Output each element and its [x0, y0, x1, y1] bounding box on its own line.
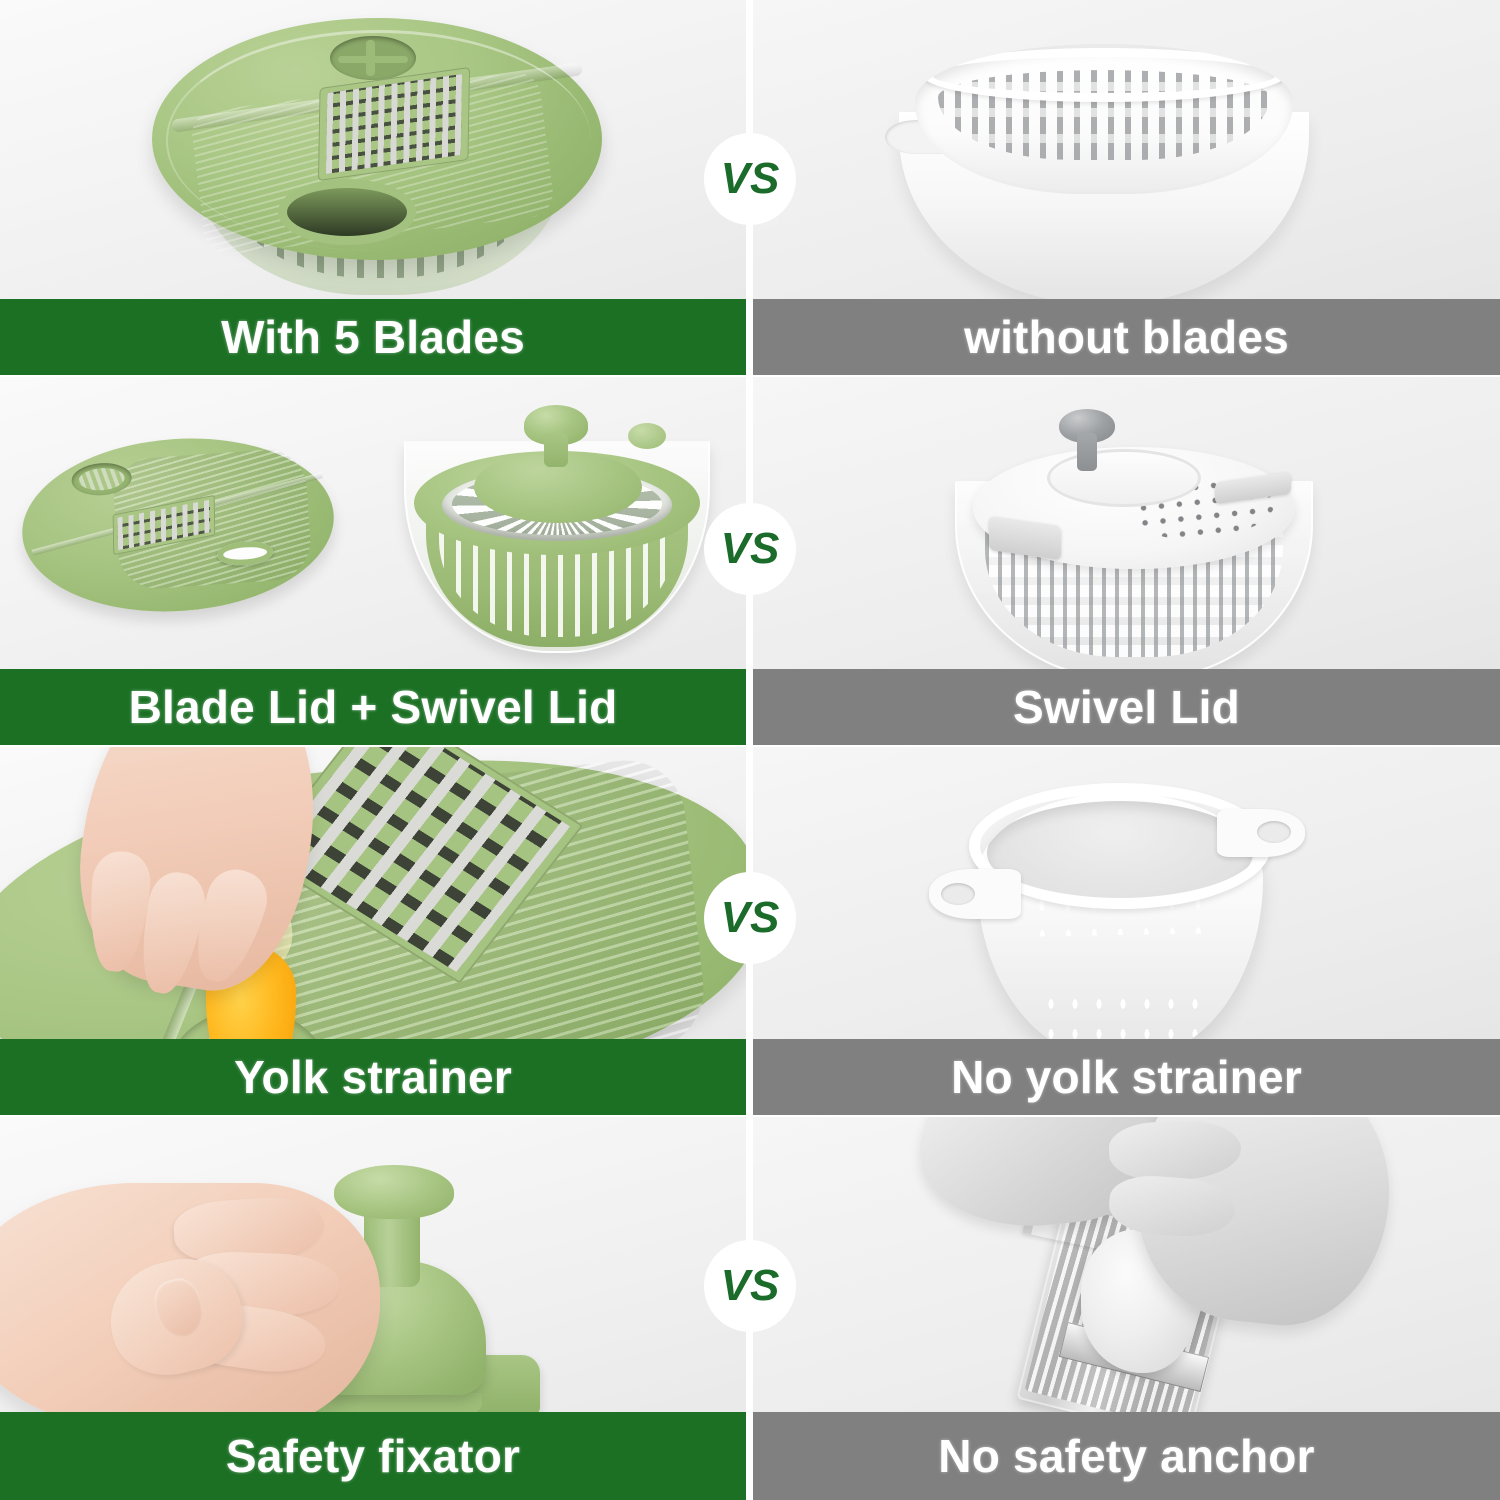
- row-yolk-right-pane: No yolk strainer: [753, 747, 1500, 1115]
- colander-handle-right: [1217, 809, 1305, 857]
- lid-oval-opening: [287, 188, 407, 236]
- row-safety-right-label: No safety anchor: [753, 1412, 1500, 1500]
- spinner-side-knob: [628, 423, 666, 449]
- comparison-infographic: With 5 Blades without blades: [0, 0, 1500, 1500]
- row-yolk-left-label: Yolk strainer: [0, 1039, 746, 1115]
- row-lids-left-pane: + Blade Lid + Swivel Lid: [0, 377, 746, 745]
- row-safety-left-label: Safety fixator: [0, 1412, 746, 1500]
- green-flat-blade-lid-shape: [16, 428, 339, 621]
- row-yolk-right-label: No yolk strainer: [753, 1039, 1500, 1115]
- row-yolk-left-pane: Yolk strainer: [0, 747, 746, 1115]
- row-lids-left-label: Blade Lid + Swivel Lid: [0, 669, 746, 745]
- row-blades-right-pane: without blades: [753, 0, 1500, 375]
- white-lid-ring: [1047, 449, 1201, 507]
- row-safety-left-pane: Safety fixator: [0, 1117, 746, 1500]
- row-blades-left-pane: With 5 Blades: [0, 0, 746, 375]
- green-spinner-shape: [396, 399, 718, 655]
- row-blades-left-label: With 5 Blades: [0, 299, 746, 375]
- white-colander-shape: [929, 783, 1305, 1073]
- basket-inner-rim: [923, 48, 1286, 102]
- spinner-knob: [524, 405, 588, 445]
- finger: [1108, 1119, 1242, 1182]
- white-spinner-shape: [949, 401, 1319, 683]
- vs-badge-row-blades: VS: [704, 133, 796, 225]
- row-blades-right-label: without blades: [753, 299, 1500, 375]
- vs-badge-row-safety: VS: [704, 1240, 796, 1332]
- metal-mandoline-shape: [883, 1117, 1383, 1417]
- row-safety-right-pane: No safety anchor: [753, 1117, 1500, 1500]
- lid-vent-icon: [330, 36, 416, 80]
- row-lids-right-pane: Swivel Lid: [753, 377, 1500, 745]
- white-basket-shape: [915, 44, 1293, 194]
- row-lids-right-label: Swivel Lid: [753, 669, 1500, 745]
- hand-gripping-fixator: [0, 1183, 380, 1433]
- vs-badge-row-lids: VS: [704, 503, 796, 595]
- fixator-top-cap: [334, 1165, 454, 1219]
- grater-teeth: [326, 74, 462, 174]
- vs-badge-row-yolk: VS: [704, 872, 796, 964]
- gray-knob: [1059, 409, 1115, 443]
- colander-handle-left: [929, 869, 1021, 919]
